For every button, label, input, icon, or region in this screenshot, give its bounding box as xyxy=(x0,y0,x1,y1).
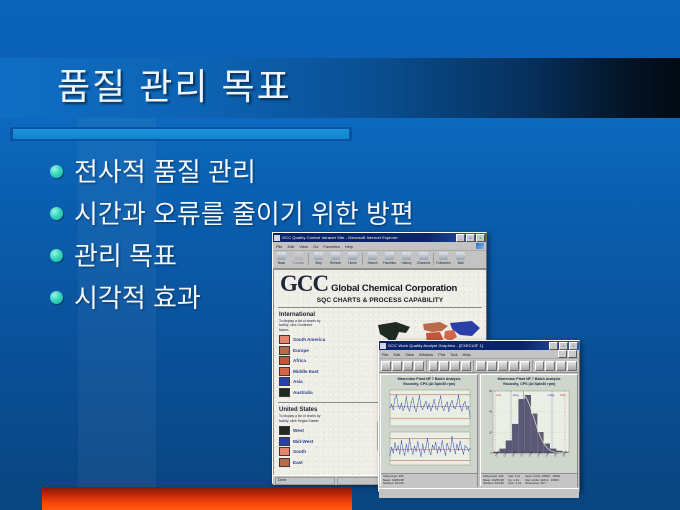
bullet-dot-icon xyxy=(50,207,63,220)
toolbar-stop-button[interactable]: Stop xyxy=(310,252,327,265)
svg-text:0: 0 xyxy=(491,451,493,455)
legend-label: Asia xyxy=(293,379,303,384)
histogram-stats: Subgroups: 200 Mean: 13253.68 Std.Dev: 8… xyxy=(481,473,577,487)
print-icon[interactable] xyxy=(414,361,424,371)
bullet-dot-icon xyxy=(50,165,63,178)
toolbar-channels-button[interactable]: Channels xyxy=(415,252,432,265)
sqc-status-bar xyxy=(379,488,579,498)
page-title: 품질 관리 목표 xyxy=(57,60,292,114)
svg-text:20: 20 xyxy=(489,431,492,435)
menu-item-file[interactable]: File xyxy=(382,352,388,357)
list-item: 전사적 품질 관리 xyxy=(50,152,590,192)
menu-item-plot[interactable]: Plot xyxy=(438,352,445,357)
legend-label: Middle East xyxy=(293,369,319,374)
sqc-toolbar[interactable] xyxy=(379,359,579,373)
legend-label: West xyxy=(293,428,304,433)
menu-item-window[interactable]: Window xyxy=(419,352,433,357)
toolbar-button-label: Favorites xyxy=(383,261,396,265)
save-disk-icon[interactable] xyxy=(403,361,413,371)
copy-icon[interactable] xyxy=(439,361,449,371)
section-heading-international: International xyxy=(274,309,486,319)
menu-item-help[interactable]: Help xyxy=(345,244,353,249)
refresh-icon xyxy=(331,252,340,260)
search-icon xyxy=(368,252,377,260)
toolbar-home-button[interactable]: Home xyxy=(344,252,361,265)
chart-title-line1: Warrenton Plant NF 7 Batch Analysis xyxy=(397,377,460,381)
chart-title-line2: Viscosity, CPS (At Spin30 rpm) xyxy=(403,382,456,386)
legend-label: East xyxy=(293,460,303,465)
histogram-panel[interactable]: Warrenton Plant NF 7 Batch Analysis Visc… xyxy=(480,374,578,487)
ie-window-controls[interactable]: _ □ × xyxy=(456,234,485,242)
toolbar-refresh-button[interactable]: Refresh xyxy=(327,252,344,265)
range-chart-icon[interactable] xyxy=(487,361,497,371)
ie-app-icon xyxy=(274,235,280,241)
legend-item-africa[interactable]: Africa xyxy=(279,356,325,365)
menu-item-edit[interactable]: Edit xyxy=(393,352,400,357)
zoom-out-icon[interactable] xyxy=(545,361,555,371)
legend-label: Australia xyxy=(293,390,313,395)
svg-text:60: 60 xyxy=(489,389,492,393)
list-item-label: 시간과 오류를 줄이기 위한 방편 xyxy=(74,194,414,234)
scatter-plot-icon[interactable] xyxy=(520,361,530,371)
history-icon xyxy=(402,252,411,260)
slide-background-top xyxy=(0,0,680,58)
toolbar-button-label: History xyxy=(402,261,412,265)
toolbar-divider xyxy=(308,253,309,265)
histogram-icon[interactable] xyxy=(498,361,508,371)
toolbar-button-label: Fullscreen xyxy=(436,261,451,265)
legend-item-south[interactable]: South xyxy=(279,447,321,456)
close-button[interactable]: × xyxy=(476,234,485,242)
legend-label: Africa xyxy=(293,358,306,363)
list-item: 시간과 오류를 줄이기 위한 방편 xyxy=(50,194,590,234)
toolbar-button-label: Mail xyxy=(458,261,464,265)
open-folder-icon[interactable] xyxy=(392,361,402,371)
toolbar-button-label: Forward xyxy=(293,261,305,265)
menu-item-help[interactable]: Help xyxy=(462,352,470,357)
mdi-restore-button[interactable] xyxy=(568,350,577,358)
fullscreen-icon xyxy=(439,252,448,260)
svg-text:40: 40 xyxy=(489,410,492,414)
gcc-header: GCC Global Chemical Corporation xyxy=(274,270,486,295)
mdi-child-controls[interactable] xyxy=(558,350,577,358)
region-legend[interactable]: West Mid-West South East xyxy=(279,426,321,467)
chart-title-line2: Viscosity, CPS (At Spin30 rpm) xyxy=(503,382,556,386)
favorites-star-icon xyxy=(385,252,394,260)
swatch-icon xyxy=(279,458,290,467)
minimize-button[interactable]: _ xyxy=(549,342,558,350)
toolbar-divider xyxy=(532,360,533,372)
paste-icon[interactable] xyxy=(450,361,460,371)
toolbar-back-button[interactable]: Back xyxy=(273,252,290,265)
legend-item-asia[interactable]: Asia xyxy=(279,377,325,386)
bullet-dot-icon xyxy=(50,249,63,262)
home-icon xyxy=(348,252,357,260)
minimize-button[interactable]: _ xyxy=(456,234,465,242)
swatch-icon xyxy=(279,335,290,344)
slide-canvas: 품질 관리 목표 전사적 품질 관리 시간과 오류를 줄이기 위한 방편 관리 … xyxy=(0,0,680,510)
list-item-label: 전사적 품질 관리 xyxy=(74,152,256,192)
swatch-icon xyxy=(279,426,290,435)
sqc-mdi-area: Warrenton Plant NF 7 Batch Analysis Visc… xyxy=(379,373,579,488)
list-item-label: 관리 목표 xyxy=(74,236,177,276)
gcc-logo-text: GCC xyxy=(280,273,328,295)
control-chart-title: Warrenton Plant NF 7 Batch Analysis Visc… xyxy=(381,375,477,387)
menu-item-edit[interactable]: Edit xyxy=(287,244,294,249)
continent-legend[interactable]: South America Europe Africa Middle xyxy=(279,335,325,397)
close-button[interactable]: × xyxy=(569,342,578,350)
stop-icon xyxy=(314,252,323,260)
new-file-icon[interactable] xyxy=(381,361,391,371)
menu-item-go[interactable]: Go xyxy=(313,244,318,249)
zoom-in-icon[interactable] xyxy=(535,361,545,371)
list-item-label: 시각적 효과 xyxy=(74,278,201,318)
sqc-title-bar[interactable]: GCC Work Quality Analyst Graphics - [EXE… xyxy=(379,341,579,350)
swatch-icon xyxy=(279,437,290,446)
toolbar-button-label: Back xyxy=(278,261,285,265)
toolbar-divider xyxy=(473,360,474,372)
sqc-window-title: GCC Work Quality Analyst Graphics - [EXE… xyxy=(388,343,549,348)
legend-item-south-america[interactable]: South America xyxy=(279,335,325,344)
toolbar-divider xyxy=(426,360,427,372)
ie-logo-icon xyxy=(476,243,484,249)
toolbar-mail-button[interactable]: Mail xyxy=(452,252,469,265)
mdi-minimize-button[interactable] xyxy=(558,350,567,358)
stats-column: Subgroups: 200 Mean: 13253.68 Std.Dev: 8… xyxy=(483,475,504,486)
undo-icon[interactable] xyxy=(461,361,471,371)
legend-label: Mid-West xyxy=(293,439,313,444)
legend-item-middle-east[interactable]: Middle East xyxy=(279,367,325,376)
legend-label: Europe xyxy=(293,348,309,353)
ie-toolbar[interactable]: Back Forward Stop Refresh Home xyxy=(273,251,486,269)
toolbar-button-label: Refresh xyxy=(330,261,341,265)
toolbar-divider xyxy=(362,253,363,265)
swatch-icon xyxy=(279,388,290,397)
help-question-icon[interactable] xyxy=(567,361,577,371)
status-badge: Done xyxy=(276,478,334,482)
menu-item-view[interactable]: View xyxy=(405,352,414,357)
legend-item-australia[interactable]: Australia xyxy=(279,388,325,397)
toolbar-fullscreen-button[interactable]: Fullscreen xyxy=(435,252,452,265)
svg-text:LSL: LSL xyxy=(496,393,502,397)
legend-item-east[interactable]: East xyxy=(279,458,321,467)
swatch-icon xyxy=(279,346,290,355)
menu-item-favorites[interactable]: Favorites xyxy=(323,244,339,249)
svg-text:-3sig: -3sig xyxy=(512,393,519,397)
toolbar-button-label: Stop xyxy=(315,261,322,265)
swatch-icon xyxy=(279,367,290,376)
settings-gear-icon[interactable] xyxy=(556,361,566,371)
sqc-window-controls[interactable]: _ □ × xyxy=(549,342,578,350)
forward-arrow-icon xyxy=(294,252,303,260)
control-chart-panel[interactable]: Warrenton Plant NF 7 Batch Analysis Visc… xyxy=(380,374,478,487)
maximize-button[interactable]: □ xyxy=(466,234,475,242)
divider xyxy=(278,307,482,308)
legend-item-west[interactable]: West xyxy=(279,426,321,435)
swatch-icon xyxy=(279,356,290,365)
swatch-icon xyxy=(279,377,290,386)
gcc-subtitle: SQC CHARTS & PROCESS CAPABILITY xyxy=(274,295,486,306)
toolbar-forward-button[interactable]: Forward xyxy=(290,252,307,265)
legend-label: South America xyxy=(293,337,325,342)
menu-item-view[interactable]: View xyxy=(299,244,308,249)
xbar-chart-icon[interactable] xyxy=(476,361,486,371)
stats-column: Spec Limits: 10600 , 16000 Nat. Limits: … xyxy=(525,475,560,486)
menu-item-tool[interactable]: Tool xyxy=(450,352,457,357)
svg-text:USL: USL xyxy=(560,393,566,397)
footer-accent-bar xyxy=(42,487,352,510)
united-states-hint: To display a list of charts by facility,… xyxy=(279,414,321,423)
menu-item-file[interactable]: File xyxy=(276,244,282,249)
legend-item-europe[interactable]: Europe xyxy=(279,346,325,355)
sqc-analyst-window[interactable]: GCC Work Quality Analyst Graphics - [EXE… xyxy=(378,340,580,492)
legend-item-mid-west[interactable]: Mid-West xyxy=(279,437,321,446)
histogram-title: Warrenton Plant NF 7 Batch Analysis Visc… xyxy=(481,375,577,387)
swatch-icon xyxy=(279,447,290,456)
xbar-and-range-charts xyxy=(381,387,477,473)
status-text-cell: Done xyxy=(275,477,335,485)
toolbar-search-button[interactable]: Search xyxy=(364,252,381,265)
channels-icon xyxy=(419,252,428,260)
ie-window-title: GCC Quality Control Intranet Site - Micr… xyxy=(282,235,456,240)
gcc-company-name: Global Chemical Corporation xyxy=(331,283,457,294)
international-hint: To display a list of charts by facility,… xyxy=(279,319,321,332)
toolbar-divider xyxy=(433,253,434,265)
toolbar-history-button[interactable]: History xyxy=(398,252,415,265)
ie-menu-bar[interactable]: File Edit View Go Favorites Help xyxy=(273,242,486,251)
toolbar-button-label: Home xyxy=(348,261,357,265)
chart-title-line1: Warrenton Plant NF 7 Batch Analysis xyxy=(497,377,560,381)
capability-histogram: LSLUSL-3sig+3sig106001130012000127001340… xyxy=(481,387,577,473)
toolbar-button-label: Channels xyxy=(417,261,430,265)
back-arrow-icon xyxy=(277,252,286,260)
maximize-button[interactable]: □ xyxy=(559,342,568,350)
ie-title-bar[interactable]: GCC Quality Control Intranet Site - Micr… xyxy=(273,233,486,242)
sqc-menu-bar[interactable]: File Edit View Window Plot Tool Help xyxy=(379,350,579,359)
svg-text:+3sig: +3sig xyxy=(547,393,555,397)
accent-bar xyxy=(13,129,349,139)
stats-column: Subgroups: 200 Mean: 13253.68 Std.Dev: 8… xyxy=(383,475,404,486)
toolbar-favorites-button[interactable]: Favorites xyxy=(381,252,398,265)
legend-label: South xyxy=(293,449,306,454)
cut-icon[interactable] xyxy=(429,361,439,371)
control-chart-stats: Subgroups: 200 Mean: 13253.68 Std.Dev: 8… xyxy=(381,473,477,487)
bullet-dot-icon xyxy=(50,291,63,304)
mail-icon xyxy=(456,252,465,260)
pareto-chart-icon[interactable] xyxy=(509,361,519,371)
sqc-app-icon xyxy=(380,343,386,349)
toolbar-button-label: Search xyxy=(367,261,377,265)
stats-column: Cpk: 1.11 Cp: 1.44 Cpm: 1.21 xyxy=(508,475,521,486)
